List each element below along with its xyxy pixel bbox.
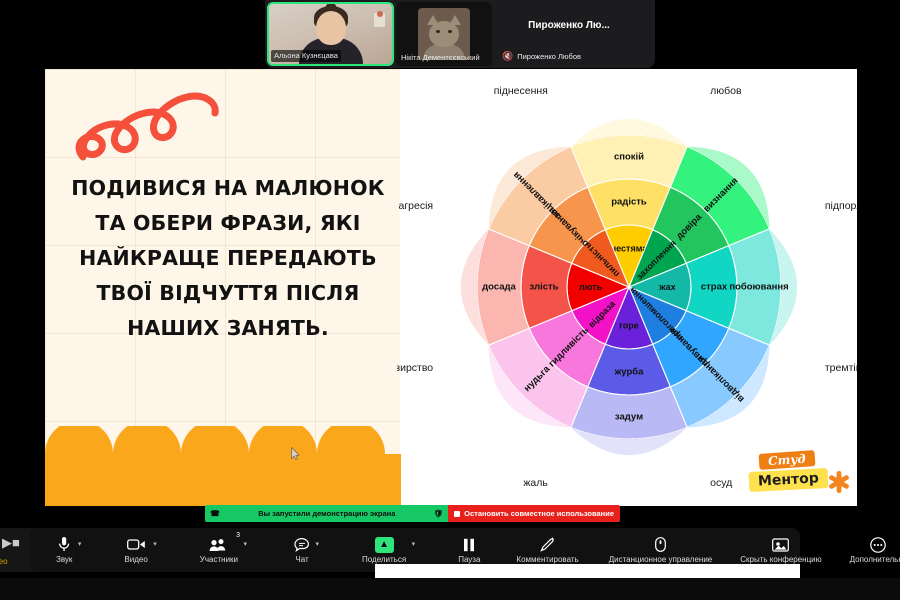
wheel-dyad-label: піднесення [494,85,548,97]
wheel-label: задум [615,412,643,423]
wheel-label: горе [619,320,639,330]
toolbar-label-participants: Участники [200,555,238,564]
chevron-down-icon-participants[interactable]: ▾ [243,540,247,548]
wheel-label: журба [614,367,645,378]
people-icon [209,536,228,553]
pencil-icon [540,536,555,553]
slide-headline: ПОДИВИСЯ НА МАЛЮНОК ТА ОБЕРИ ФРАЗИ, ЯКІ … [63,171,393,346]
stop-square-icon [454,511,460,517]
stop-share-label: Остановить совместное использование [464,509,614,518]
wheel-label: побоювання [729,282,788,293]
emotion-wheel-chart: нестямарадістьспокійзахопленнядовіравизн… [397,75,857,500]
participant-tile-alona[interactable]: Альона Кузнєцава [267,2,394,66]
toolbar-label-annotate: Комментировать [516,555,578,564]
participant-gallery-strip: Альона Кузнєцава Нікіта Дементєєвський П… [265,0,655,68]
wheel-label: нестяма [611,244,649,254]
wheel-dyad-label: агресія [399,200,434,212]
studmentor-logo: Студ Ментор [749,452,849,498]
mouse-icon [655,536,666,553]
share-status-text: Вы запустили демонстрацию экрана [258,509,395,518]
pause-icon [463,536,475,553]
chevron-down-icon-share[interactable]: ▾ [412,540,416,548]
wheel-label: спокій [614,152,644,163]
headline-line-1: ПОДИВИСЯ НА МАЛЮНОК [63,171,393,206]
toolbar-label-chat: Чат [295,555,308,564]
window-right-letterbox [857,0,900,524]
headline-line-4: ТВОЇ ВІДЧУТТЯ ПІСЛЯ [63,276,393,311]
wheel-label: досада [482,282,516,293]
share-status: ☎ Вы запустили демонстрацию экрана 🛡 [205,505,448,522]
camera-icon: ▶■ [2,535,20,551]
window-left-letterbox [0,0,46,524]
wheel-label: жах [658,282,676,292]
spiral-decoration [75,69,235,164]
shared-screen-slide: ПОДИВИСЯ НА МАЛЮНОК ТА ОБЕРИ ФРАЗИ, ЯКІ … [45,69,857,506]
scallop-decoration [45,426,401,506]
share-screen-icon: ▲ [375,536,394,553]
minimize-window-icon [772,536,789,553]
chat-bubble-icon [294,536,310,553]
camera-icon [127,536,146,553]
toolbar-item-chat[interactable]: Чат ▾ [294,528,310,572]
toolbar-item-video[interactable]: Видео ▾ [124,528,147,572]
shield-icon: 🛡 [434,509,444,518]
participants-count-badge: 3 [236,532,240,539]
participant-name-alona: Альона Кузнєцава [271,50,341,62]
slide-bottom-white-edge [375,564,800,578]
cat-head [429,21,459,47]
stop-share-button[interactable]: Остановить совместное использование [448,505,620,522]
toolbar-label-share: Поделиться [362,555,406,564]
chevron-down-icon-video[interactable]: ▾ [153,540,157,548]
wheel-dyad-label: підпорядкування [825,200,857,212]
screen-share-banner: ☎ Вы запустили демонстрацию экрана 🛡 Ост… [205,505,620,522]
toolbar-label-remote-control: Дистанционное управление [609,555,713,564]
wheel-dyad-label: любов [710,85,742,97]
avatar-face [316,11,346,45]
toolbar-label-minimize: Скрыть конференцию [740,555,821,564]
mic-off-icon: 🔇 [502,51,513,62]
participant-tile-lyubov[interactable]: Пироженко Лю... 🔇 Пироженко Любов [494,2,644,66]
headline-line-3: НАЙКРАЩЕ ПЕРЕДАЮТЬ [63,241,393,276]
toolbar-label-more: Дополнительно [850,555,900,564]
background-decor-dot [377,11,383,17]
headline-line-5: НАШИХ ЗАНЯТЬ. [63,311,393,346]
wheel-label: лють [579,282,603,292]
phone-icon: ☎ [210,509,220,518]
logo-word-mentor: Ментор [749,468,829,492]
chevron-down-icon-audio[interactable]: ▾ [78,540,82,548]
ellipsis-icon [870,536,886,553]
wheel-dyad-label: презирство [397,362,433,374]
toolbar-label-video: Видео [124,555,147,564]
toolbar-label-pause: Пауза [458,555,480,564]
window-bottom-bar [0,578,900,600]
participant-title-lyubov: Пироженко Лю... [528,20,610,31]
logo-word-stud: Студ [759,450,816,470]
headline-line-2: ТА ОБЕРИ ФРАЗИ, ЯКІ [63,206,393,241]
wheel-dyad-label: тремтіння [825,362,857,374]
wheel-dyad-label: осуд [710,477,732,489]
wheel-label: злість [529,282,558,293]
toolbar-item-participants[interactable]: Участники 3 ▾ [200,528,238,572]
participant-tile-nikita[interactable]: Нікіта Дементєєвський [396,2,492,66]
microphone-icon [58,536,70,553]
participant-nameplate-lyubov: 🔇 Пироженко Любов [502,51,581,62]
wheel-label: страх [701,282,728,293]
toolbar-item-more[interactable]: Дополнительно [850,528,900,572]
wheel-dyad-label: жаль [523,477,548,489]
cat-eye-right [448,30,452,33]
asterisk-icon [827,470,851,494]
toolbar-label-audio: Звук [56,555,72,564]
toolbar-item-audio[interactable]: Звук ▾ [56,528,72,572]
secondary-toolbar-label: део [0,557,8,566]
participant-name-lyubov: Пироженко Любов [517,52,581,61]
cat-eye-left [436,30,440,33]
participant-name-nikita: Нікіта Дементєєвський [398,52,483,64]
wheel-label: радість [611,197,647,208]
chevron-down-icon-chat[interactable]: ▾ [315,540,319,548]
mouse-pointer-icon [291,447,300,460]
